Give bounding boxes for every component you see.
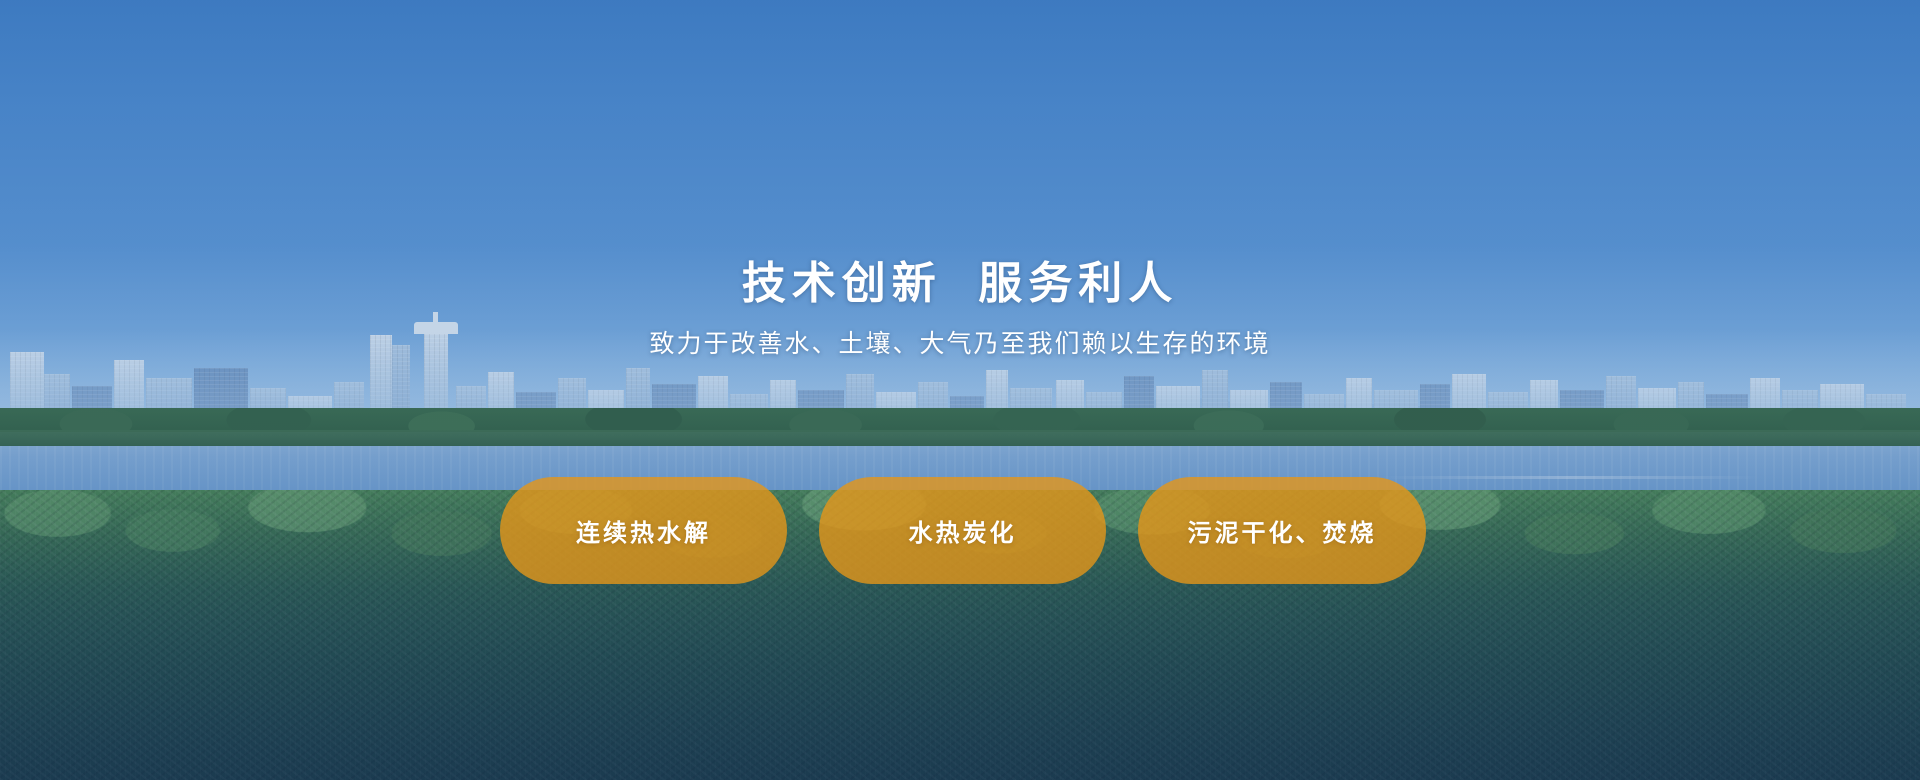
hero-button-label: 水热炭化 <box>909 513 1017 548</box>
hero-button-sludge-drying-incineration[interactable]: 污泥干化、焚烧 <box>1138 477 1426 584</box>
hero-button-continuous-thermal-hydrolysis[interactable]: 连续热水解 <box>500 477 787 584</box>
hero-banner: 技术创新 服务利人 致力于改善水、土壤、大气乃至我们赖以生存的环境 连续热水解 … <box>0 0 1920 780</box>
hero-button-label: 连续热水解 <box>576 513 711 548</box>
hero-button-row: 连续热水解 水热炭化 污泥干化、焚烧 <box>500 477 1426 584</box>
hero-headline: 技术创新 服务利人 <box>742 262 1178 306</box>
hero-button-hydrothermal-carbonization[interactable]: 水热炭化 <box>819 477 1106 584</box>
hero-button-label: 污泥干化、焚烧 <box>1188 513 1377 548</box>
hero-subheadline: 致力于改善水、土壤、大气乃至我们赖以生存的环境 <box>649 332 1270 357</box>
hero-copy: 技术创新 服务利人 致力于改善水、土壤、大气乃至我们赖以生存的环境 <box>0 0 1920 780</box>
